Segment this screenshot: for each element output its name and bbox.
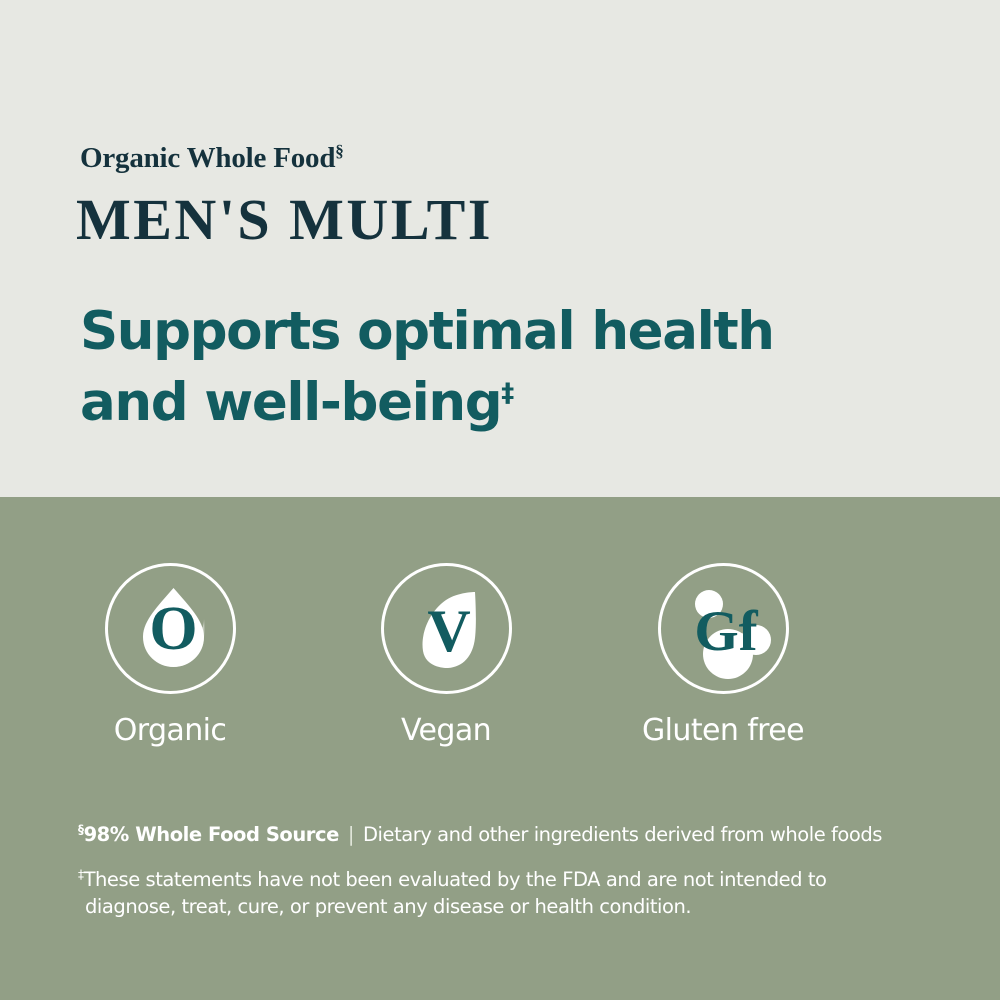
gluten-free-grain-icon: Gf <box>661 566 792 697</box>
eyebrow-text: Organic Whole Food§ <box>80 142 344 175</box>
certification-badge-organic: O Organic <box>80 563 260 748</box>
vegan-leaf-icon: V <box>384 566 515 697</box>
badge-ring-vegan: V <box>381 563 512 694</box>
badge-label-organic: Organic <box>80 713 260 748</box>
certification-badge-gluten-free: Gf Gluten free <box>633 563 813 748</box>
svg-text:O: O <box>149 595 197 663</box>
page-title: MEN'S MULTI <box>76 186 493 253</box>
footnote-fda-text: These statements have not been evaluated… <box>84 868 827 918</box>
badge-ring-organic: O <box>105 563 236 694</box>
hero-section: Organic Whole Food§ MEN'S MULTI Supports… <box>0 0 1000 497</box>
badge-ring-gluten-free: Gf <box>658 563 789 694</box>
footnote-fda-disclaimer: ‡These statements have not been evaluate… <box>78 866 885 920</box>
eyebrow-label: Organic Whole Food <box>80 142 335 174</box>
footnotes-block: §98% Whole Food Source|Dietary and other… <box>78 822 938 920</box>
footnote-divider: | <box>348 822 354 848</box>
benefit-superscript-marker: ‡ <box>501 378 514 408</box>
organic-leaf-droplet-icon: O <box>108 566 239 697</box>
svg-text:Gf: Gf <box>694 600 758 663</box>
footnote-source-detail: Dietary and other ingredients derived fr… <box>363 823 882 846</box>
certification-badge-vegan: V Vegan <box>356 563 536 748</box>
badge-label-vegan: Vegan <box>356 713 536 748</box>
badge-label-gluten-free: Gluten free <box>633 713 813 748</box>
certifications-section: O Organic V Vegan <box>0 497 1000 1000</box>
benefit-line-2: and well-being <box>80 372 501 433</box>
footnote-whole-food-source: §98% Whole Food Source|Dietary and other… <box>78 822 938 848</box>
benefit-line-1: Supports optimal health <box>80 301 774 362</box>
certification-badge-row: O Organic V Vegan <box>80 563 840 753</box>
benefit-statement: Supports optimal health and well-being‡ <box>80 296 880 438</box>
eyebrow-superscript-marker: § <box>335 141 343 160</box>
svg-text:V: V <box>427 598 470 664</box>
product-label-panel: Organic Whole Food§ MEN'S MULTI Supports… <box>0 0 1000 1000</box>
footnote-source-bold-text: 98% Whole Food Source <box>84 823 339 846</box>
